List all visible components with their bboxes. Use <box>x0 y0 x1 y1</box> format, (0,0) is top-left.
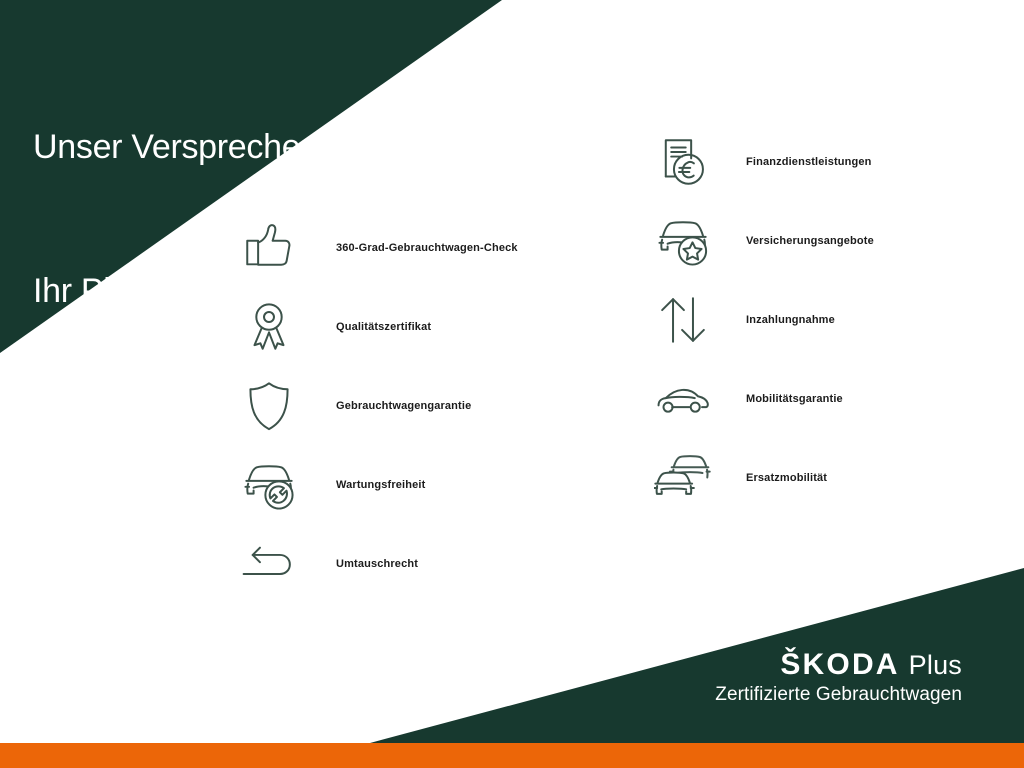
feature-list-right: Finanzdienstleistungen Versicherungsange… <box>650 122 874 517</box>
feature-item: Umtauschrecht <box>236 524 518 603</box>
logo-tagline: Zertifizierte Gebrauchtwagen <box>715 684 962 706</box>
feature-label: Versicherungsangebote <box>746 235 874 247</box>
car-side-icon <box>650 366 716 432</box>
logo-wordmark-row: ŠKODA Plus <box>715 648 962 682</box>
feature-label: 360-Grad-Gebrauchtwagen-Check <box>336 242 518 254</box>
shield-icon <box>236 373 302 439</box>
feature-label: Mobilitätsgarantie <box>746 393 843 405</box>
feature-label: Inzahlungnahme <box>746 314 835 326</box>
feature-item: Versicherungsangebote <box>650 201 874 280</box>
headline-line-1: Unser Versprechen. <box>33 123 328 171</box>
thumbs-up-icon <box>236 215 302 281</box>
feature-list-left: 360-Grad-Gebrauchtwagen-Check Qualitätsz… <box>236 208 518 603</box>
feature-item: Wartungsfreiheit <box>236 445 518 524</box>
feature-label: Ersatzmobilität <box>746 472 827 484</box>
plus-wordmark: Plus <box>909 650 962 681</box>
car-star-icon <box>650 208 716 274</box>
feature-label: Gebrauchtwagengarantie <box>336 400 471 412</box>
feature-item: Gebrauchtwagengarantie <box>236 366 518 445</box>
up-down-arrows-icon <box>650 287 716 353</box>
car-wrench-icon <box>236 452 302 518</box>
feature-item: Finanzdienstleistungen <box>650 122 874 201</box>
feature-label: Umtauschrecht <box>336 558 418 570</box>
feature-item: Ersatzmobilität <box>650 438 874 517</box>
award-rosette-icon <box>236 294 302 360</box>
skoda-wordmark: ŠKODA <box>780 648 899 682</box>
feature-item: 360-Grad-Gebrauchtwagen-Check <box>236 208 518 287</box>
feature-label: Wartungsfreiheit <box>336 479 425 491</box>
skoda-plus-logo: ŠKODA Plus Zertifizierte Gebrauchtwagen <box>715 648 962 706</box>
return-arrow-icon <box>236 531 302 597</box>
two-cars-icon <box>650 445 716 511</box>
feature-label: Qualitätszertifikat <box>336 321 431 333</box>
feature-item: Inzahlungnahme <box>650 280 874 359</box>
promo-banner: Unser Versprechen. Ihr Plus. 360-Grad-Ge… <box>0 0 1024 768</box>
feature-item: Qualitätszertifikat <box>236 287 518 366</box>
document-euro-icon <box>650 129 716 195</box>
feature-item: Mobilitätsgarantie <box>650 359 874 438</box>
orange-footer-bar <box>0 743 1024 768</box>
feature-label: Finanzdienstleistungen <box>746 156 872 168</box>
